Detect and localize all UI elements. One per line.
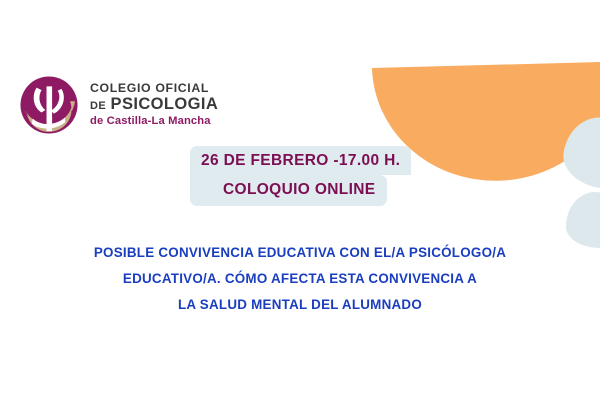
psi-circle-logo-icon: [18, 74, 80, 136]
logo-line-castilla-la-mancha: de Castilla-La Mancha: [90, 116, 218, 128]
headline-line-3: LA SALUD MENTAL DEL ALUMNADO: [0, 292, 600, 318]
page-title: POSIBLE CONVIVENCIA EDUCATIVA CON EL/A P…: [0, 240, 600, 318]
organization-logo: COLEGIO OFICIAL DE PSICOLOGIA de Castill…: [18, 74, 218, 136]
event-date-time: 26 DE FEBRERO -17.00 H.: [190, 146, 411, 175]
logo-line-de-psicologia: DE PSICOLOGIA: [90, 96, 218, 114]
logo-word-psicologia: PSICOLOGIA: [111, 95, 219, 113]
poster-canvas: COLEGIO OFICIAL DE PSICOLOGIA de Castill…: [0, 0, 600, 400]
logo-line-colegio-oficial: COLEGIO OFICIAL: [90, 82, 218, 95]
event-banner: 26 DE FEBRERO -17.00 H. COLOQUIO ONLINE: [190, 146, 411, 206]
logo-wordmark: COLEGIO OFICIAL DE PSICOLOGIA de Castill…: [90, 82, 218, 128]
logo-word-de: DE: [90, 100, 106, 112]
event-format-label: COLOQUIO ONLINE: [190, 175, 387, 206]
headline-line-2: EDUCATIVO/A. CÓMO AFECTA ESTA CONVIVENCI…: [0, 266, 600, 292]
headline-line-1: POSIBLE CONVIVENCIA EDUCATIVA CON EL/A P…: [0, 240, 600, 266]
